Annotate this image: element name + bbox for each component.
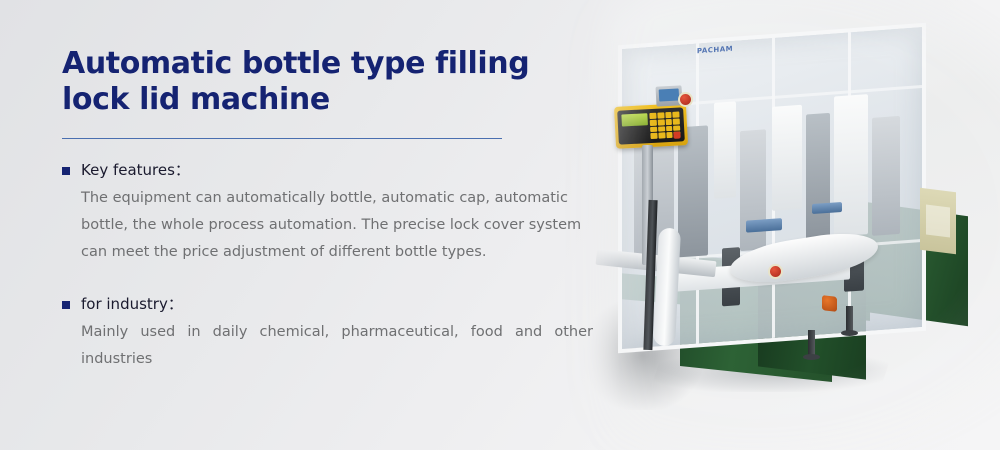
leveling-foot — [808, 330, 815, 356]
text-column: Automatic bottle type filling lock lid m… — [62, 46, 602, 373]
page-title: Automatic bottle type filling lock lid m… — [62, 46, 602, 118]
keypad-controller — [614, 103, 688, 149]
machine-illustration: PACHAM — [560, 0, 1000, 450]
feature-body: The equipment can automatically bottle, … — [81, 185, 593, 266]
title-divider — [62, 138, 502, 139]
internal-part — [714, 101, 736, 199]
internal-part — [772, 105, 802, 211]
feature-block-for-industry: for industry： Mainly used in daily chemi… — [62, 294, 602, 373]
feature-title: Key features： — [81, 160, 190, 181]
feature-title: for industry： — [81, 294, 183, 315]
internal-part — [834, 94, 868, 236]
beige-accessory-cart — [920, 188, 956, 254]
emergency-stop-button — [768, 264, 783, 279]
orange-connector — [822, 295, 837, 312]
emergency-stop-button — [678, 92, 693, 107]
bullet-square-icon — [62, 167, 70, 175]
feature-heading-row: for industry： — [62, 294, 602, 315]
product-photo: PACHAM — [560, 0, 1000, 450]
bullet-square-icon — [62, 301, 70, 309]
feature-block-key-features: Key features： The equipment can automati… — [62, 160, 602, 266]
internal-part — [872, 116, 900, 236]
internal-part — [806, 113, 830, 241]
internal-part — [740, 129, 766, 251]
internal-pneumatic — [812, 202, 842, 214]
feature-body: Mainly used in daily chemical, pharmaceu… — [81, 319, 593, 373]
keypad-red-button — [673, 131, 680, 138]
internal-pneumatic — [746, 218, 782, 233]
feature-heading-row: Key features： — [62, 160, 602, 181]
leveling-foot — [846, 306, 853, 332]
product-banner: Automatic bottle type filling lock lid m… — [0, 0, 1000, 450]
lcd-display — [621, 113, 648, 126]
keypad-body — [617, 107, 685, 144]
